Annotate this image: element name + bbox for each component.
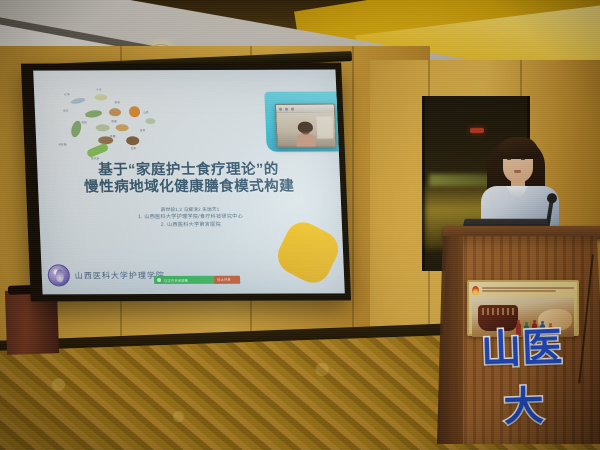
video-person (295, 123, 318, 148)
video-feed (276, 113, 336, 148)
food-label: 苦荞 (140, 128, 146, 132)
food-item-icon (96, 124, 110, 131)
slide-title-line1: 基于“家庭护士食疗理论”的 (37, 161, 340, 179)
projection-screen-frame: 小米 红枣 核桃 山药 黄芪 莜麦 苦荞 陈醋 老陈醋 黄花菜 豆腐 南瓜 基于… (21, 63, 351, 302)
podium-side-panel (437, 236, 463, 444)
food-item-icon (129, 106, 140, 117)
video-control-dot-icon[interactable] (291, 107, 294, 110)
podium-watermark: 山医大 (461, 314, 585, 434)
placard-header-text (482, 287, 574, 293)
food-label: 黄花菜 (91, 156, 100, 160)
slide-title-line2: 慢性病地域化健康膳食模式构建 (38, 178, 341, 196)
slide-authors-block: 薛世毅1,2 冯耀清2 朱瑞芳1 1. 山西医科大学护理学院/食疗科技研究中心 … (39, 205, 342, 229)
food-label: 莜麦 (111, 119, 117, 123)
remote-participant-video[interactable] (275, 104, 337, 148)
projection-screen: 小米 红枣 核桃 山药 黄芪 莜麦 苦荞 陈醋 老陈醋 黄花菜 豆腐 南瓜 基于… (33, 70, 345, 295)
food-item-icon (94, 94, 107, 100)
food-label: 山药 (143, 110, 149, 114)
food-item-icon (145, 118, 155, 124)
food-label: 南瓜 (63, 108, 69, 112)
placard-header (472, 285, 574, 295)
conference-photo-scene: 小米 红枣 核桃 山药 黄芪 莜麦 苦荞 陈醋 老陈醋 黄花菜 豆腐 南瓜 基于… (0, 0, 600, 450)
slide-footer: 山西医科大学护理学院 (47, 264, 165, 286)
screen-share-indicator-bar[interactable]: 您正在共享屏幕 停止共享 (154, 276, 240, 284)
slide-affiliation-2: 2. 山西医科大学第言医院 (40, 220, 343, 229)
stop-share-label: 停止共享 (214, 276, 240, 284)
food-item-icon (126, 136, 139, 145)
food-item-icon (109, 108, 121, 116)
video-background-shelf (316, 117, 333, 139)
podium-area: 山医大 (437, 184, 600, 444)
slide-title: 基于“家庭护士食疗理论”的 慢性病地域化健康膳食模式构建 (37, 161, 341, 196)
video-control-dot-icon[interactable] (279, 107, 282, 110)
university-emblem-icon (47, 264, 70, 286)
food-label: 老陈醋 (58, 142, 67, 146)
slide-footer-institution: 山西医科大学护理学院 (75, 270, 166, 281)
food-label: 黄芪 (81, 120, 87, 124)
food-item-icon (85, 109, 103, 118)
food-label: 陈醋 (110, 134, 116, 138)
food-label: 小米 (96, 87, 102, 91)
food-label: 红枣 (64, 92, 70, 96)
video-window-titlebar (276, 105, 334, 113)
food-label: 核桃 (115, 100, 121, 104)
food-label: 豆腐 (130, 146, 136, 150)
share-status-dot-icon (157, 278, 161, 282)
flame-logo-icon (472, 286, 479, 295)
video-control-dot-icon[interactable] (285, 107, 288, 110)
room-shell: 小米 红枣 核桃 山药 黄芪 莜麦 苦荞 陈醋 老陈醋 黄花菜 豆腐 南瓜 基于… (0, 0, 600, 450)
food-item-icon (116, 124, 129, 131)
food-item-icon (70, 97, 86, 105)
food-illustration-cluster: 小米 红枣 核桃 山药 黄芪 莜麦 苦荞 陈醋 老陈醋 黄花菜 豆腐 南瓜 (50, 84, 194, 166)
stop-share-button[interactable]: 停止共享 (214, 276, 240, 284)
